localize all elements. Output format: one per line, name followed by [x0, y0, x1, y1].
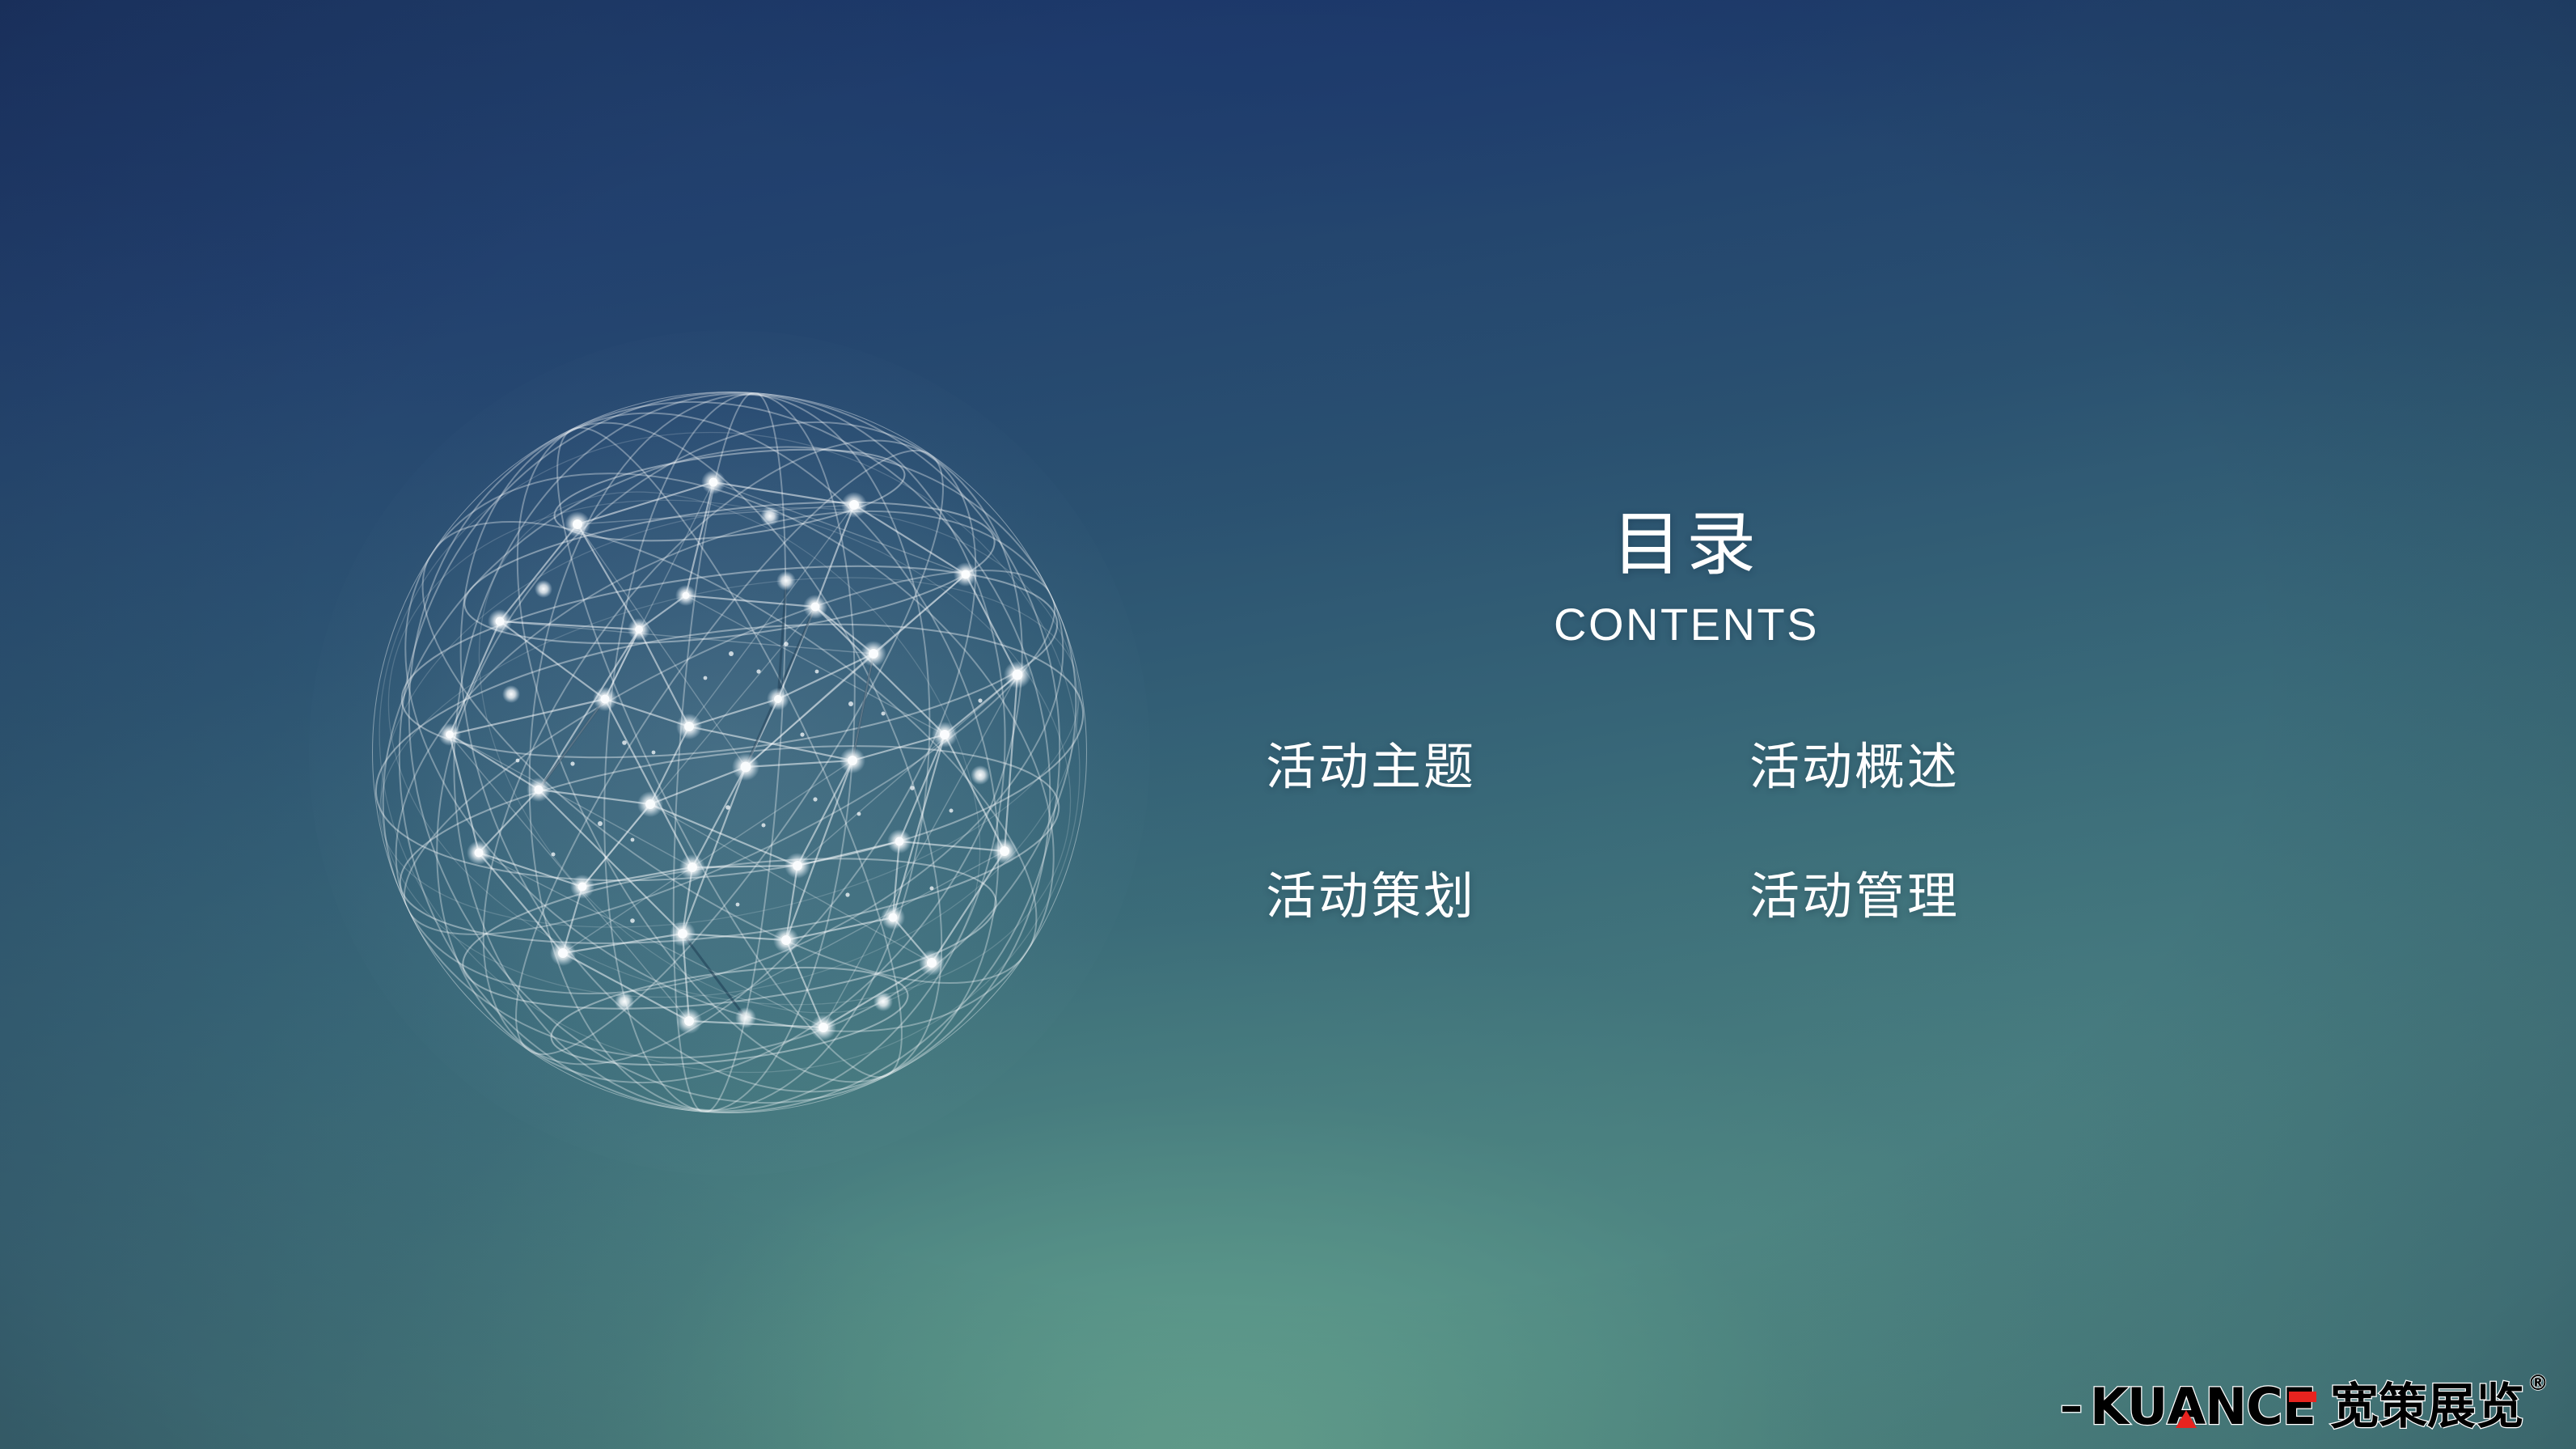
slide-canvas: 目录 CONTENTS 活动主题 活动概述 活动策划 活动管理 KU A NC …: [0, 0, 2576, 1449]
contents-item-3[interactable]: 活动策划: [1266, 872, 1694, 922]
page-title-en: CONTENTS: [1533, 602, 1840, 647]
logo-dash-icon: [2062, 1406, 2080, 1412]
logo-wordmark: KU A NC E: [2090, 1383, 2316, 1431]
page-title-cn: 目录: [1533, 510, 1840, 579]
logo-wordmark-e: E: [2282, 1383, 2316, 1431]
contents-menu-grid: 活动主题 活动概述 活动策划 活动管理: [1266, 743, 2123, 922]
contents-item-4[interactable]: 活动管理: [1694, 872, 2123, 922]
logo-wordmark-a: A: [2167, 1383, 2205, 1431]
logo-wordmark-ku: KU: [2090, 1383, 2167, 1431]
logo-chinese-name: 宽策展览: [2330, 1383, 2524, 1431]
contents-item-1[interactable]: 活动主题: [1266, 743, 1694, 793]
logo-red-triangle-icon: [2176, 1410, 2197, 1428]
logo-wordmark-nc: NC: [2205, 1383, 2282, 1431]
contents-section: 目录 CONTENTS 活动主题 活动概述 活动策划 活动管理: [1266, 510, 2123, 922]
network-globe-graphic: [366, 387, 1093, 1119]
contents-item-2[interactable]: 活动概述: [1694, 743, 2123, 793]
logo-red-bar-icon: [2289, 1392, 2316, 1402]
brand-logo[interactable]: KU A NC E 宽策展览 ®: [2062, 1362, 2549, 1431]
network-globe-svg: [366, 387, 1093, 1119]
logo-trademark-symbol: ®: [2527, 1371, 2549, 1396]
